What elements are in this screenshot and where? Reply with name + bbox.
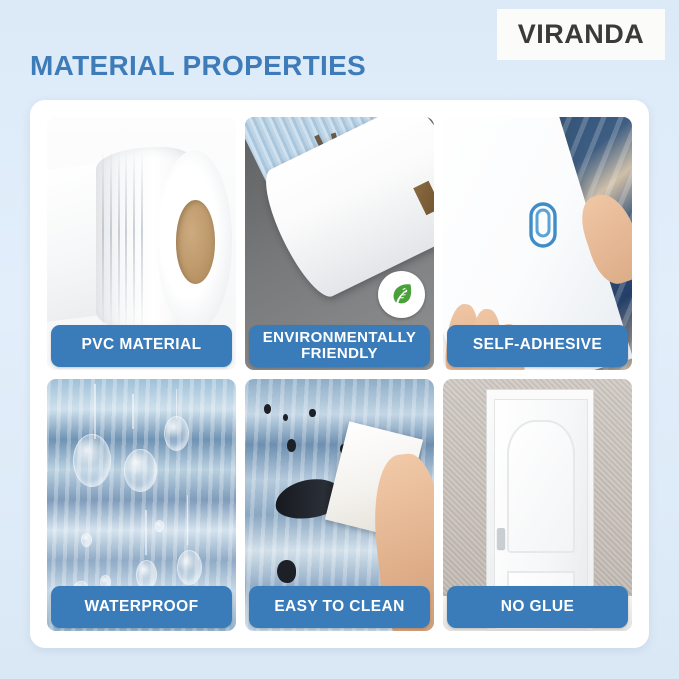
feature-tile-waterproof: WATERPROOF <box>47 379 236 632</box>
feature-label-easy-to-clean: EASY TO CLEAN <box>249 586 430 628</box>
feature-label-pvc-material: PVC MATERIAL <box>51 325 232 367</box>
feature-tile-no-glue: NO GLUE <box>443 379 632 632</box>
roll-layer-lines <box>100 150 149 332</box>
features-card: PVC MATERIAL <box>30 100 649 648</box>
feature-tile-pvc-material: PVC MATERIAL <box>47 117 236 370</box>
door-handle <box>497 528 505 549</box>
eco-leaf-badge <box>378 271 425 318</box>
brand-logo-text: VIRANDA <box>518 19 645 50</box>
feature-label-waterproof: WATERPROOF <box>51 586 232 628</box>
roll-cardboard-core <box>176 200 216 283</box>
green-leaf-icon <box>387 279 417 309</box>
feature-tile-easy-to-clean: EASY TO CLEAN <box>245 379 434 632</box>
paperclip-icon <box>526 200 560 250</box>
feature-tile-environmentally-friendly: ENVIRONMENTALLY FRIENDLY <box>245 117 434 370</box>
brand-logo-badge: VIRANDA <box>497 9 665 60</box>
feature-tile-self-adhesive: SELF-ADHESIVE <box>443 117 632 370</box>
features-grid: PVC MATERIAL <box>47 117 632 631</box>
feature-label-no-glue: NO GLUE <box>447 586 628 628</box>
feature-label-environmentally-friendly: ENVIRONMENTALLY FRIENDLY <box>249 325 430 367</box>
page-title: MATERIAL PROPERTIES <box>30 50 366 82</box>
infographic-page: VIRANDA MATERIAL PROPERTIES PVC MATERIAL <box>0 0 679 679</box>
feature-label-self-adhesive: SELF-ADHESIVE <box>447 325 628 367</box>
